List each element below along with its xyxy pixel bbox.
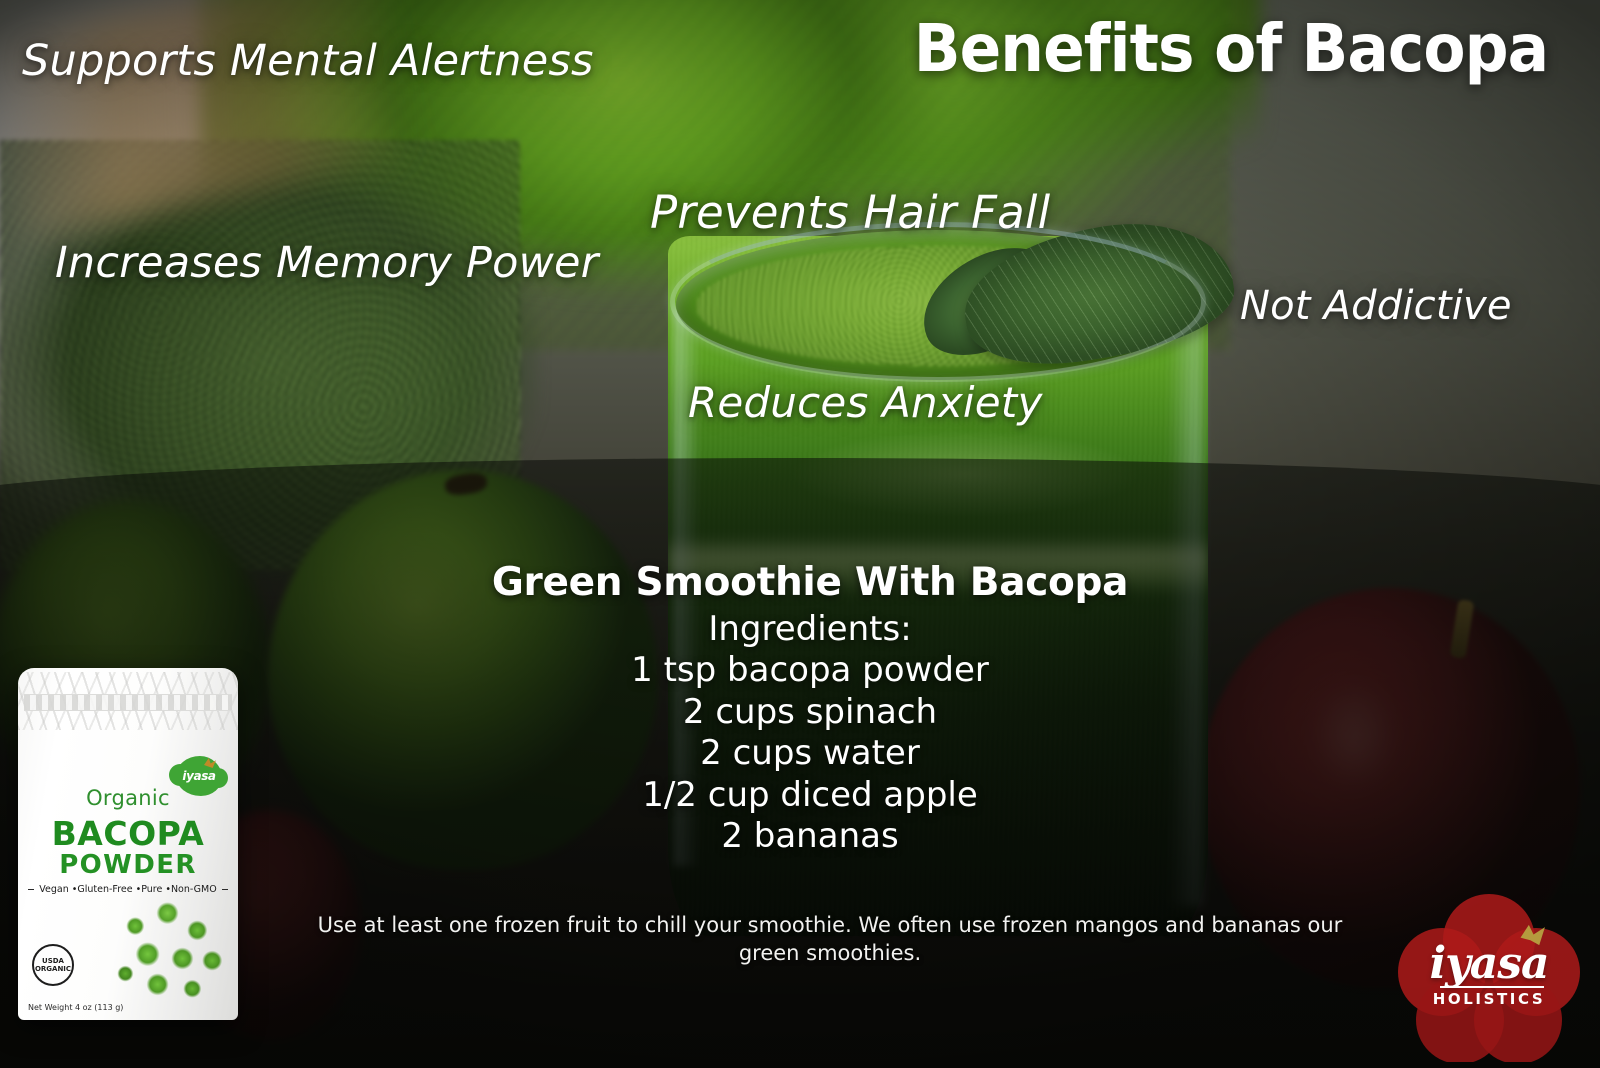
benefit-reduces-anxiety: Reduces Anxiety xyxy=(688,378,1043,427)
bacopa-plant-illustration xyxy=(108,898,232,1006)
package-brand-logo: iyasa xyxy=(176,756,222,796)
list-item: 2 cups water xyxy=(440,733,1180,774)
vignette xyxy=(0,0,1600,1068)
divider-left xyxy=(28,889,34,890)
package-product-name: BACOPA xyxy=(18,814,238,853)
benefit-increases-memory-power: Increases Memory Power xyxy=(55,238,598,288)
package-net-weight: Net Weight 4 oz (113 g) xyxy=(28,1003,123,1012)
list-item: 1/2 cup diced apple xyxy=(440,775,1180,816)
brand-logo: iyasa HOLISTICS xyxy=(1394,894,1584,1062)
seal-line-2: ORGANIC xyxy=(35,965,71,973)
usda-organic-seal: USDA ORGANIC xyxy=(32,944,74,986)
benefit-prevents-hair-fall: Prevents Hair Fall xyxy=(650,186,1050,239)
brand-tagline: HOLISTICS xyxy=(1394,990,1584,1008)
page-title: Benefits of Bacopa xyxy=(914,10,1548,87)
recipe-title: Green Smoothie With Bacopa xyxy=(440,560,1180,605)
footnote-text: Use at least one frozen fruit to chill y… xyxy=(300,912,1360,967)
product-package: iyasa Organic BACOPA POWDER Vegan •Glute… xyxy=(18,668,238,1020)
ingredients-heading: Ingredients: xyxy=(440,609,1180,650)
ingredients-list: 1 tsp bacopa powder 2 cups spinach 2 cup… xyxy=(440,650,1180,857)
package-body: iyasa Organic BACOPA POWDER Vegan •Glute… xyxy=(18,668,238,1020)
list-item: 2 bananas xyxy=(440,816,1180,857)
seal-line-1: USDA xyxy=(42,957,64,965)
list-item: 2 cups spinach xyxy=(440,692,1180,733)
poster-canvas: Benefits of Bacopa Supports Mental Alert… xyxy=(0,0,1600,1068)
package-claims: Vegan •Gluten-Free •Pure •Non-GMO xyxy=(39,884,216,895)
package-product-form: POWDER xyxy=(18,850,238,880)
package-zipper xyxy=(24,694,232,711)
benefit-not-addictive: Not Addictive xyxy=(1240,283,1512,329)
brand-name: iyasa xyxy=(1394,938,1584,989)
brand-underline xyxy=(1440,986,1544,988)
package-claims-row: Vegan •Gluten-Free •Pure •Non-GMO xyxy=(28,884,228,895)
divider-right xyxy=(222,889,228,890)
recipe-block: Green Smoothie With Bacopa Ingredients: … xyxy=(440,560,1180,858)
list-item: 1 tsp bacopa powder xyxy=(440,650,1180,691)
benefit-supports-mental-alertness: Supports Mental Alertness xyxy=(22,36,594,86)
